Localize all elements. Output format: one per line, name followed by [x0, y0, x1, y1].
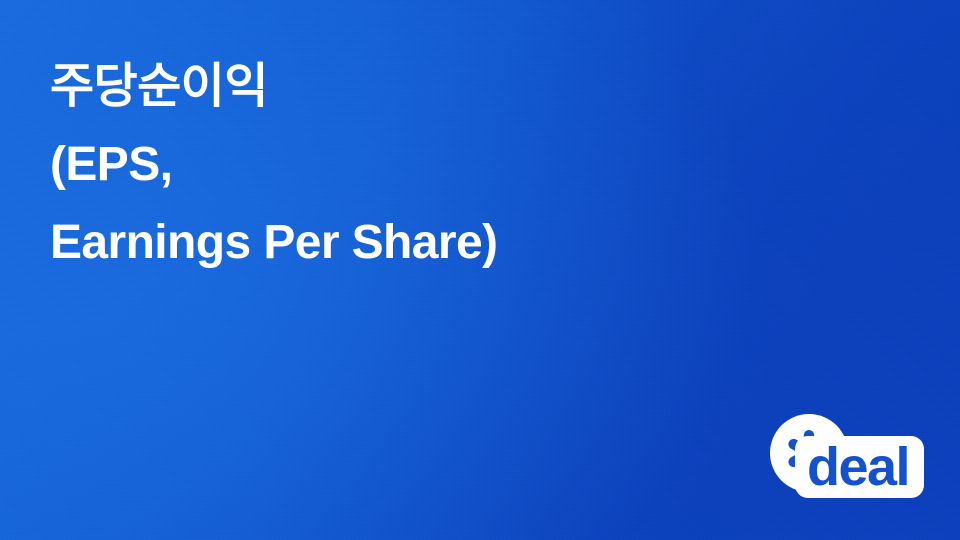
title-line-3: Earnings Per Share)	[50, 204, 690, 282]
title-line-1: 주당순이익	[50, 48, 690, 126]
logo-wordmark: deal	[807, 437, 927, 497]
title-slide: 주당순이익 (EPS, Earnings Per Share) deal	[0, 0, 960, 540]
deal-logo: deal	[762, 412, 924, 502]
page-title: 주당순이익 (EPS, Earnings Per Share)	[50, 48, 690, 282]
title-line-2: (EPS,	[50, 126, 690, 204]
